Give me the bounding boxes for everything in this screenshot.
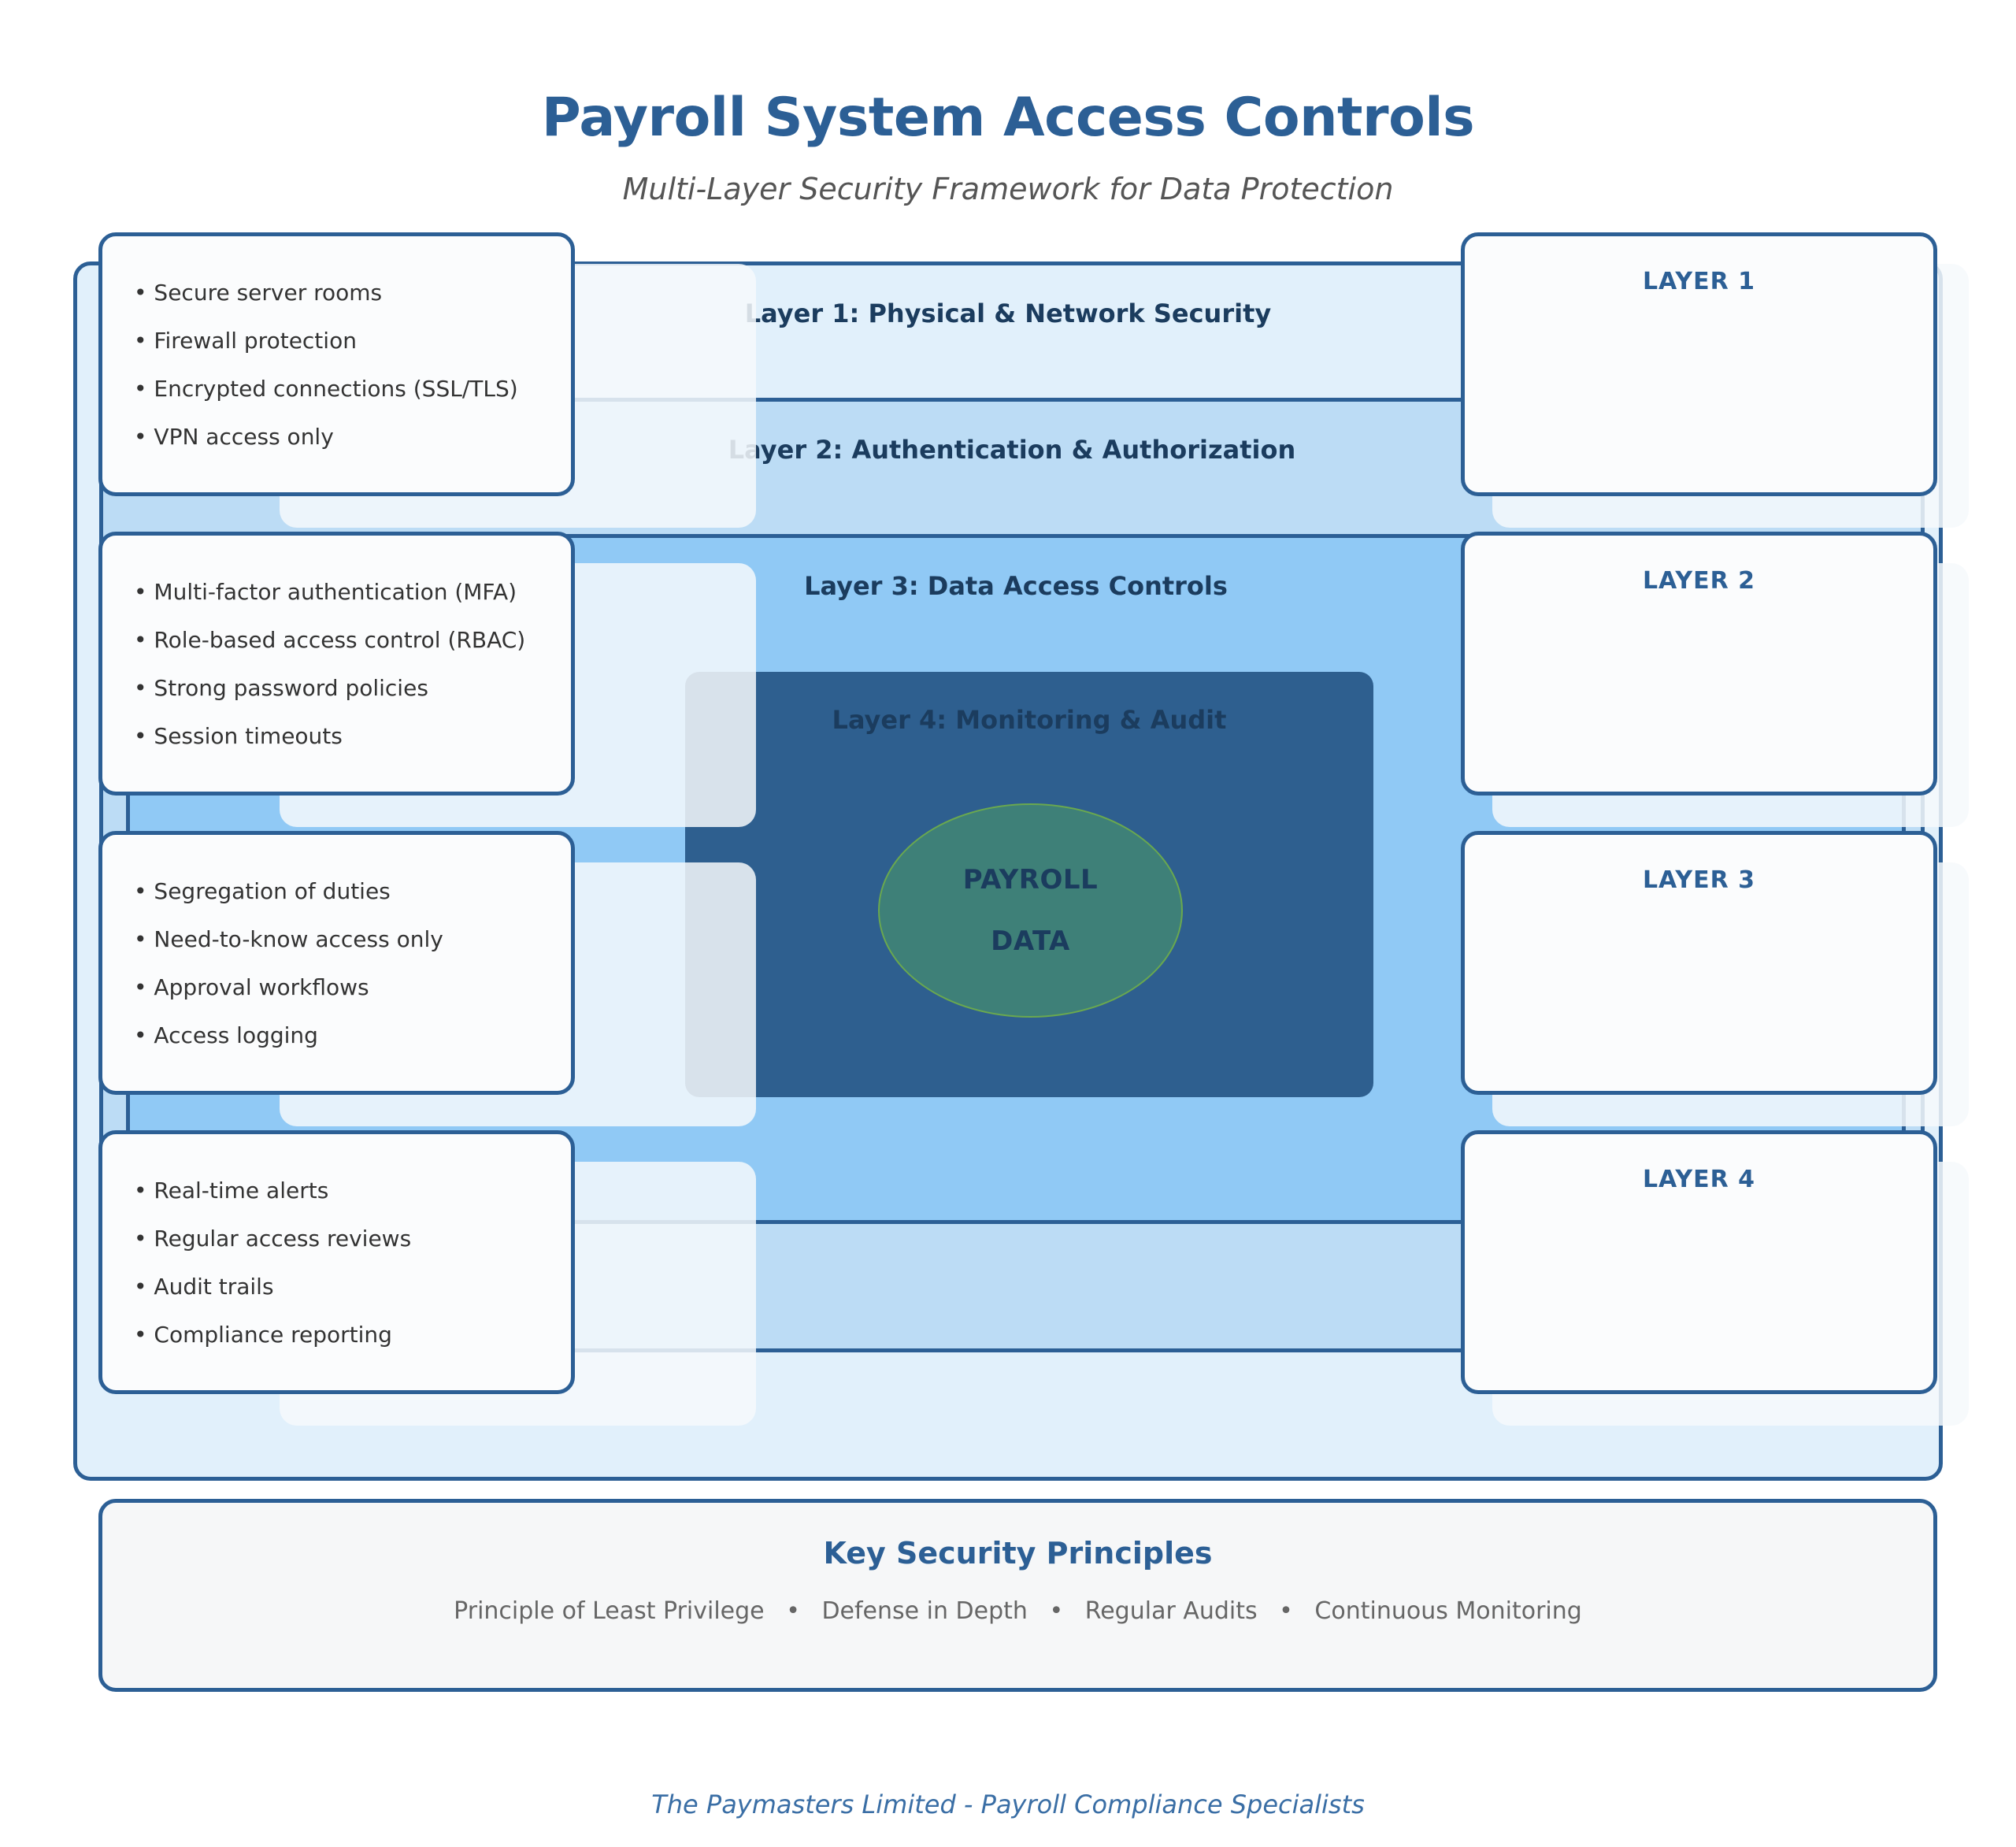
list-item: Need-to-know access only	[134, 925, 539, 953]
bullet-separator-icon: •	[786, 1597, 800, 1625]
list-item: Approval workflows	[134, 974, 539, 1001]
principles-title: Key Security Principles	[102, 1536, 1933, 1571]
core-label-line2: DATA	[991, 925, 1070, 957]
principle-item: Defense in Depth	[821, 1597, 1027, 1625]
status-badge: LAYER 1	[1465, 268, 1933, 295]
list-item: Secure server rooms	[134, 279, 539, 306]
layer-4-title: Layer 4: Monitoring & Audit	[685, 705, 1373, 735]
bullet-separator-icon: •	[1049, 1597, 1063, 1625]
list-item: Multi-factor authentication (MFA)	[134, 578, 539, 606]
layer-4-badge-box: LAYER 4	[1461, 1130, 1937, 1394]
security-layer-4: Layer 4: Monitoring & Audit PAYROLL DATA	[685, 672, 1373, 1097]
principle-item: Continuous Monitoring	[1314, 1597, 1581, 1625]
core-label-line1: PAYROLL	[963, 864, 1098, 896]
principle-item: Principle of Least Privilege	[454, 1597, 764, 1625]
list-item: Compliance reporting	[134, 1321, 539, 1348]
page-subtitle: Multi-Layer Security Framework for Data …	[0, 172, 2016, 206]
status-badge: LAYER 3	[1465, 866, 1933, 894]
list-item: Session timeouts	[134, 722, 539, 750]
bullet-separator-icon: •	[1279, 1597, 1293, 1625]
page-title: Payroll System Access Controls	[0, 87, 2016, 149]
list-item: Regular access reviews	[134, 1225, 539, 1252]
key-security-principles-panel: Key Security Principles Principle of Lea…	[98, 1499, 1937, 1692]
status-badge: LAYER 2	[1465, 567, 1933, 595]
status-badge: LAYER 4	[1465, 1166, 1933, 1193]
list-item: VPN access only	[134, 423, 539, 451]
principles-list: Principle of Least Privilege • Defense i…	[102, 1597, 1933, 1625]
list-item: Encrypted connections (SSL/TLS)	[134, 375, 539, 402]
principle-item: Regular Audits	[1085, 1597, 1258, 1625]
layer-3-badge-box: LAYER 3	[1461, 831, 1937, 1095]
list-item: Strong password policies	[134, 674, 539, 702]
layer-3-detail-box: Segregation of duties Need-to-know acces…	[98, 831, 575, 1095]
footer-credit: The Paymasters Limited - Payroll Complia…	[0, 1790, 2016, 1819]
payroll-data-core: PAYROLL DATA	[878, 803, 1183, 1018]
list-item: Role-based access control (RBAC)	[134, 626, 539, 654]
list-item: Segregation of duties	[134, 877, 539, 905]
list-item: Firewall protection	[134, 327, 539, 354]
layer-2-badge-box: LAYER 2	[1461, 532, 1937, 796]
layer-4-detail-box: Real-time alerts Regular access reviews …	[98, 1130, 575, 1394]
list-item: Access logging	[134, 1022, 539, 1049]
layer-1-detail-box: Secure server rooms Firewall protection …	[98, 232, 575, 496]
layer-1-badge-box: LAYER 1	[1461, 232, 1937, 496]
list-item: Real-time alerts	[134, 1177, 539, 1204]
layer-2-detail-box: Multi-factor authentication (MFA) Role-b…	[98, 532, 575, 796]
list-item: Audit trails	[134, 1273, 539, 1300]
